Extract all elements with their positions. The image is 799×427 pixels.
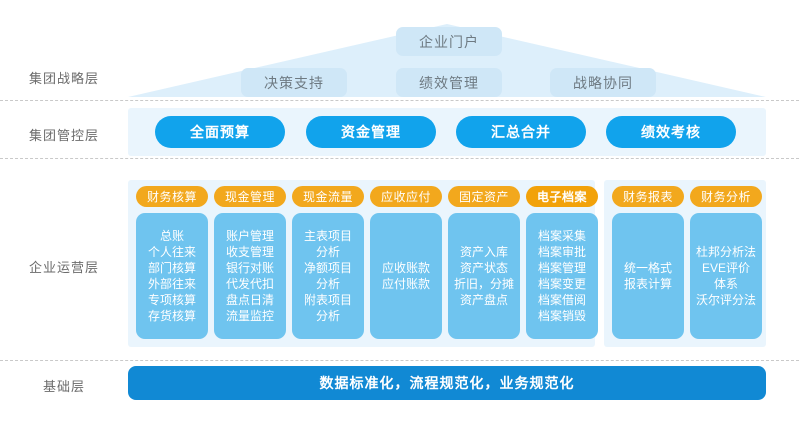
operation-column-financial-analysis[interactable]: 财务分析 杜邦分析法 EVE评价 体系 沃尔评分法	[690, 186, 762, 339]
operation-column-head[interactable]: 现金流量	[292, 186, 364, 207]
operation-item: 统一格式	[624, 260, 672, 276]
operation-item: 分析	[304, 276, 352, 292]
operation-column-head[interactable]: 应收应付	[370, 186, 442, 207]
operation-item: 折旧，分摊	[454, 276, 514, 292]
control-pill-fund-management[interactable]: 资金管理	[306, 116, 436, 148]
strategy-box-decision-support[interactable]: 决策支持	[241, 68, 347, 97]
operation-item: 收支管理	[226, 244, 274, 260]
operation-column-financial-reports[interactable]: 财务报表 统一格式 报表计算	[612, 186, 684, 339]
operation-item: 档案变更	[538, 276, 586, 292]
row-label-operation: 企业运营层	[0, 257, 128, 276]
operation-item: 档案管理	[538, 260, 586, 276]
operation-item: 附表项目	[304, 292, 352, 308]
foundation-bar[interactable]: 数据标准化，流程规范化，业务规范化	[128, 366, 766, 400]
operation-item: 档案借阅	[538, 292, 586, 308]
operation-item: 资产入库	[454, 244, 514, 260]
operation-item: 体系	[696, 276, 756, 292]
operation-item: 总账	[148, 228, 196, 244]
operation-column-head[interactable]: 财务分析	[690, 186, 762, 207]
operation-item: 部门核算	[148, 260, 196, 276]
operation-item: 档案销毁	[538, 308, 586, 324]
control-pill-performance-appraisal[interactable]: 绩效考核	[606, 116, 736, 148]
control-pill-consolidation[interactable]: 汇总合并	[456, 116, 586, 148]
operation-item: 流量监控	[226, 308, 274, 324]
operation-column-electronic-archive[interactable]: 电子档案 档案采集 档案审批 档案管理 档案变更 档案借阅 档案销毁	[526, 186, 598, 339]
architecture-diagram: 集团战略层 集团管控层 企业运营层 基础层 企业门户 决策支持 绩效管理 战略协…	[0, 0, 799, 427]
operation-item: 沃尔评分法	[696, 292, 756, 308]
operation-column-body: 档案采集 档案审批 档案管理 档案变更 档案借阅 档案销毁	[526, 213, 598, 339]
strategy-box-performance-management[interactable]: 绩效管理	[396, 68, 502, 97]
operation-column-fixed-assets[interactable]: 固定资产 资产入库 资产状态 折旧，分摊 资产盘点	[448, 186, 520, 339]
operation-item: 报表计算	[624, 276, 672, 292]
operation-column-head[interactable]: 财务核算	[136, 186, 208, 207]
operation-column-body: 杜邦分析法 EVE评价 体系 沃尔评分法	[690, 213, 762, 339]
row-label-strategy: 集团战略层	[0, 68, 128, 87]
operation-column-body: 总账 个人往来 部门核算 外部往来 专项核算 存货核算	[136, 213, 208, 339]
operation-column-receivable-payable[interactable]: 应收应付 应收账款 应付账款	[370, 186, 442, 339]
operation-column-accounting[interactable]: 财务核算 总账 个人往来 部门核算 外部往来 专项核算 存货核算	[136, 186, 208, 339]
operation-item: 资产状态	[454, 260, 514, 276]
strategy-box-strategic-collaboration[interactable]: 战略协同	[550, 68, 656, 97]
operation-item: 外部往来	[148, 276, 196, 292]
operation-column-body: 账户管理 收支管理 银行对账 代发代扣 盘点日清 流量监控	[214, 213, 286, 339]
separator-control-operation	[0, 158, 799, 159]
operation-item: 专项核算	[148, 292, 196, 308]
operation-column-head[interactable]: 现金管理	[214, 186, 286, 207]
operation-item: 档案采集	[538, 228, 586, 244]
operation-item: 账户管理	[226, 228, 274, 244]
operation-column-body: 主表项目 分析 净额项目 分析 附表项目 分析	[292, 213, 364, 339]
operation-column-head[interactable]: 固定资产	[448, 186, 520, 207]
operation-column-head[interactable]: 电子档案	[526, 186, 598, 207]
operation-item: 资产盘点	[454, 292, 514, 308]
operation-column-head[interactable]: 财务报表	[612, 186, 684, 207]
operation-column-body: 统一格式 报表计算	[612, 213, 684, 339]
operation-item: 杜邦分析法	[696, 244, 756, 260]
row-label-foundation: 基础层	[0, 376, 128, 395]
operation-item: 代发代扣	[226, 276, 274, 292]
operation-item: 净额项目	[304, 260, 352, 276]
operation-item: EVE评价	[696, 260, 756, 276]
operation-column-cash-management[interactable]: 现金管理 账户管理 收支管理 银行对账 代发代扣 盘点日清 流量监控	[214, 186, 286, 339]
operation-item: 主表项目	[304, 228, 352, 244]
operation-item: 银行对账	[226, 260, 274, 276]
separator-strategy-control	[0, 100, 799, 101]
operation-item: 分析	[304, 308, 352, 324]
operation-item: 档案审批	[538, 244, 586, 260]
separator-operation-foundation	[0, 360, 799, 361]
operation-item: 个人往来	[148, 244, 196, 260]
operation-item: 存货核算	[148, 308, 196, 324]
operation-item: 分析	[304, 244, 352, 260]
control-pill-budget[interactable]: 全面预算	[155, 116, 285, 148]
operation-item: 应付账款	[382, 276, 430, 292]
operation-item: 应收账款	[382, 260, 430, 276]
row-label-control: 集团管控层	[0, 125, 128, 144]
operation-item: 盘点日清	[226, 292, 274, 308]
operation-column-body: 资产入库 资产状态 折旧，分摊 资产盘点	[448, 213, 520, 339]
strategy-box-portal[interactable]: 企业门户	[396, 27, 502, 56]
operation-column-body: 应收账款 应付账款	[370, 213, 442, 339]
operation-column-cash-flow[interactable]: 现金流量 主表项目 分析 净额项目 分析 附表项目 分析	[292, 186, 364, 339]
